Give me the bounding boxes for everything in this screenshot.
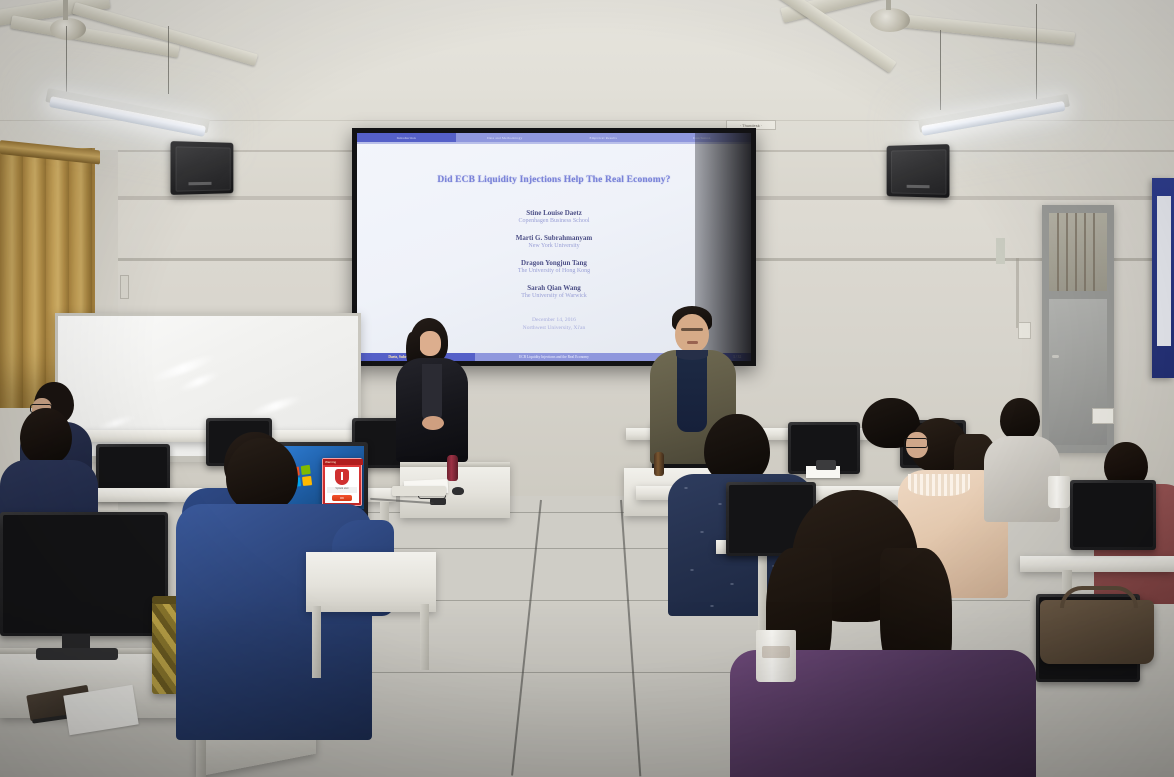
slide-affiliation-3: The University of Hong Kong bbox=[357, 268, 751, 274]
classroom-photo-scene: · Thundesk · Introduction Data and Metho… bbox=[0, 0, 1174, 777]
handbag[interactable] bbox=[1040, 600, 1154, 664]
slide-author-4: Sarah Qian Wang bbox=[357, 284, 751, 292]
slide-nav-underline bbox=[357, 142, 751, 144]
desk-center-left-leg bbox=[312, 606, 321, 678]
door-handle[interactable] bbox=[1052, 355, 1059, 358]
keyboard[interactable] bbox=[392, 486, 446, 496]
slide-affiliation-1: Copenhagen Business School bbox=[357, 218, 751, 224]
mouse[interactable] bbox=[452, 487, 464, 495]
wall-speaker-right bbox=[887, 144, 950, 198]
slide-affiliation-2: New York University bbox=[357, 243, 751, 249]
slide-footer-paper: ECB Liquidity Injections and the Real Ec… bbox=[475, 353, 633, 361]
wall-notice bbox=[120, 275, 129, 299]
paper-cup-print bbox=[762, 646, 790, 658]
dark-object-right-desk bbox=[816, 460, 836, 470]
desk-center-left bbox=[306, 552, 436, 612]
wall-conduit-drop bbox=[1016, 258, 1019, 328]
slide-nav-top: Introduction Data and Methodology Empiri… bbox=[357, 133, 751, 142]
desk-center-left-leg2 bbox=[420, 604, 429, 670]
desk-front-right-2 bbox=[1020, 556, 1174, 572]
wall-outlet bbox=[1018, 322, 1031, 339]
presenter-man-collar bbox=[676, 350, 708, 360]
red-tumbler bbox=[447, 455, 458, 481]
handbag-strap bbox=[1060, 586, 1138, 608]
presenter-woman bbox=[386, 322, 478, 482]
poster-panel bbox=[1157, 196, 1171, 346]
slide-nav-data-method: Data and Methodology bbox=[456, 133, 555, 142]
slide-nav-empirical: Empirical Results bbox=[554, 133, 653, 142]
monitor-front-left-base bbox=[36, 648, 118, 660]
presenter-woman-hands bbox=[422, 416, 444, 430]
presenter-woman-blouse bbox=[422, 364, 442, 422]
brown-bottle bbox=[654, 452, 664, 476]
slide-nav-introduction: Introduction bbox=[357, 133, 456, 142]
wall-speaker-left bbox=[171, 141, 234, 195]
door-window bbox=[1049, 213, 1107, 291]
fluorescent-light-left bbox=[48, 88, 213, 148]
slide-author-3: Dragon Yongjun Tang bbox=[357, 259, 751, 267]
presenter-man-head bbox=[675, 314, 709, 352]
presenter-woman-face bbox=[419, 331, 441, 356]
monitor-front-right-2 bbox=[1070, 480, 1156, 550]
wall-switch[interactable] bbox=[1092, 408, 1114, 424]
student-cream-glasses-icon bbox=[904, 438, 928, 448]
monitor-front-left bbox=[0, 512, 168, 636]
wall-poster bbox=[1152, 178, 1174, 378]
presenter-man-mouth bbox=[687, 341, 698, 344]
wall-sign-label: · Thundesk · bbox=[740, 123, 762, 128]
slide-author-1: Stine Louise Daetz bbox=[357, 209, 751, 217]
presenter-man-eyes bbox=[681, 328, 703, 331]
wall-plaque bbox=[996, 238, 1005, 264]
paper-cup-right[interactable] bbox=[1048, 476, 1070, 508]
student-front-blue-head bbox=[226, 438, 298, 512]
slide-author-2: Marti G. Subrahmanyam bbox=[357, 234, 751, 242]
slide-title: Did ECB Liquidity Injections Help The Re… bbox=[357, 175, 751, 185]
student-left-2-head bbox=[20, 408, 72, 464]
slide-affiliation-4: The University of Warwick bbox=[357, 293, 751, 299]
student-gray-top-head bbox=[1000, 398, 1040, 440]
